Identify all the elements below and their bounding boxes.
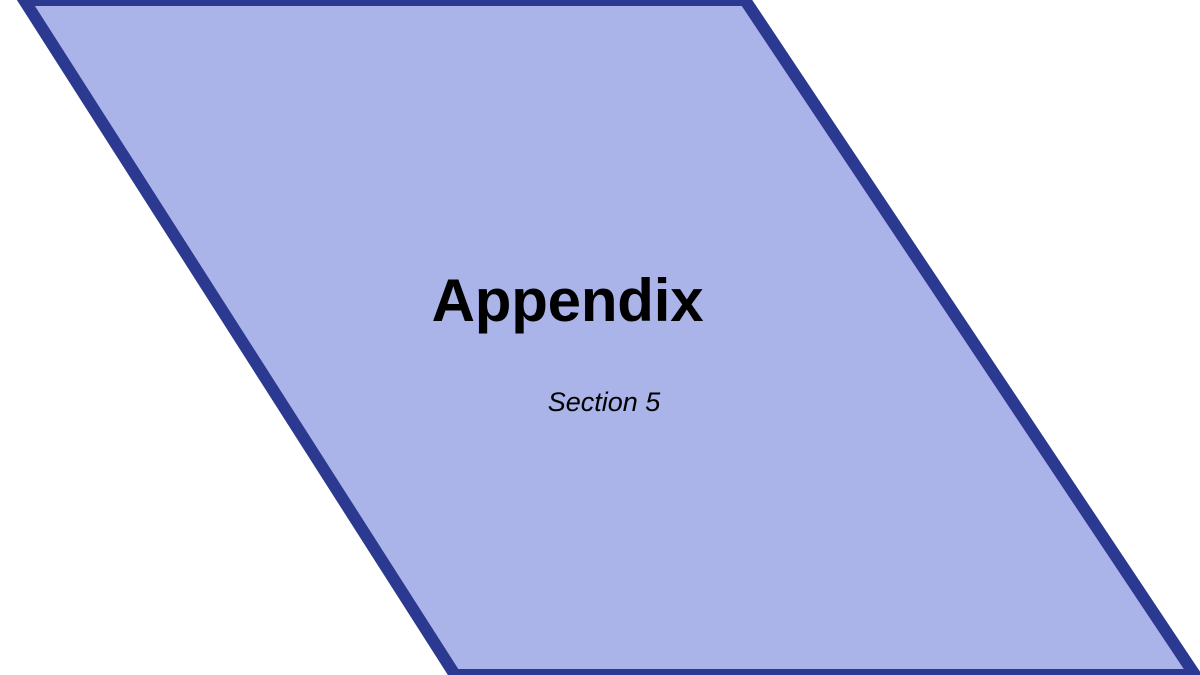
slide-text-layer: Appendix Section 5 <box>0 0 1200 675</box>
page-subtitle: Section 5 <box>0 386 1200 418</box>
page-title: Appendix <box>0 266 1135 336</box>
slide-canvas: Appendix Section 5 <box>0 0 1200 675</box>
